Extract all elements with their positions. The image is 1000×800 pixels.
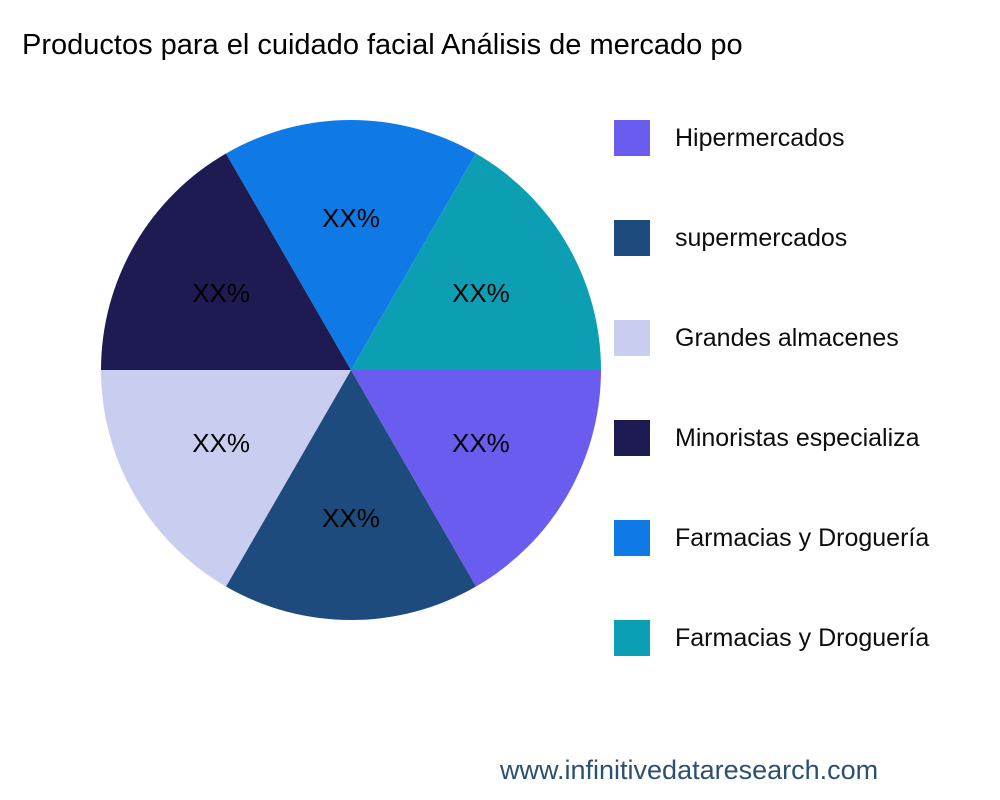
legend-color-swatch <box>614 620 650 656</box>
chart-canvas: Productos para el cuidado facial Análisi… <box>0 0 1000 800</box>
legend-color-swatch <box>614 520 650 556</box>
pie-slice-label: XX% <box>192 278 250 308</box>
legend-item-label: Farmacias y Droguería <box>675 520 929 556</box>
page-title: Productos para el cuidado facial Análisi… <box>22 25 1000 65</box>
pie-slice-label: XX% <box>322 503 380 533</box>
legend-item[interactable]: Farmacias y Droguería <box>614 620 929 656</box>
legend-item-label: Farmacias y Droguería <box>675 620 929 656</box>
pie-slice-group <box>101 120 601 620</box>
legend-item-label: Minoristas especializa <box>675 420 920 456</box>
legend-item[interactable]: supermercados <box>614 220 847 256</box>
pie-slice-label: XX% <box>452 428 510 458</box>
legend-item[interactable]: Hipermercados <box>614 120 845 156</box>
legend-color-swatch <box>614 120 650 156</box>
legend-color-swatch <box>614 220 650 256</box>
legend-color-swatch <box>614 320 650 356</box>
legend-item[interactable]: Minoristas especializa <box>614 420 920 456</box>
pie-slice-label: XX% <box>452 278 510 308</box>
legend-item[interactable]: Farmacias y Droguería <box>614 520 929 556</box>
pie-slice-label: XX% <box>322 203 380 233</box>
pie-chart: XX%XX%XX%XX%XX%XX% <box>101 120 601 620</box>
footer-url: www.infinitivedataresearch.com <box>500 755 878 786</box>
pie-chart-svg: XX%XX%XX%XX%XX%XX% <box>101 120 601 620</box>
legend-item-label: Hipermercados <box>675 120 845 156</box>
chart-legend: HipermercadossupermercadosGrandes almace… <box>614 120 1000 660</box>
legend-item[interactable]: Grandes almacenes <box>614 320 899 356</box>
pie-slice-label: XX% <box>192 428 250 458</box>
legend-item-label: Grandes almacenes <box>675 320 899 356</box>
legend-color-swatch <box>614 420 650 456</box>
legend-item-label: supermercados <box>675 220 847 256</box>
